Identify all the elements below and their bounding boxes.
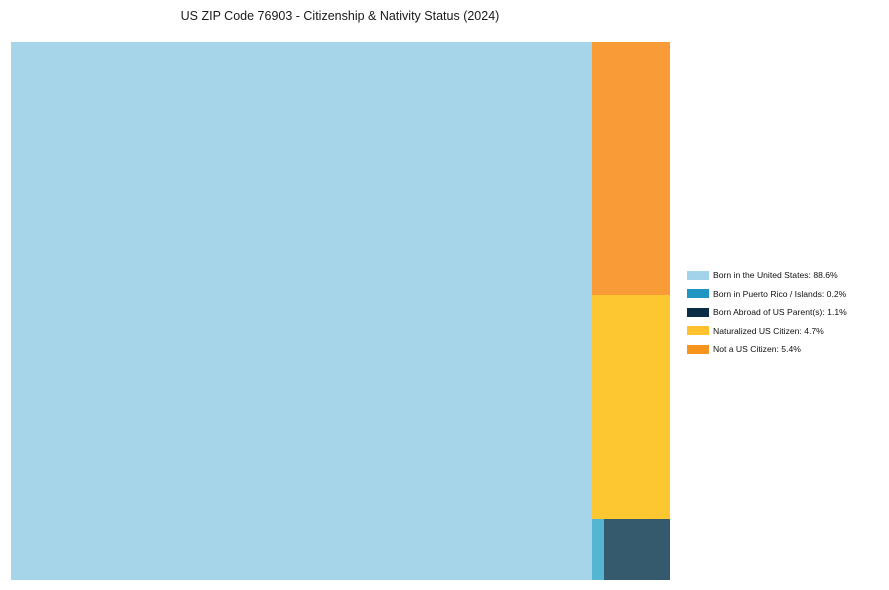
legend-item-label: Born Abroad of US Parent(s): 1.1% — [713, 307, 847, 317]
legend-item[interactable]: Born in the United States: 88.6% — [687, 266, 887, 285]
treemap-plot-area — [11, 42, 670, 580]
legend-swatch-icon — [687, 289, 709, 298]
legend-item[interactable]: Born in Puerto Rico / Islands: 0.2% — [687, 285, 887, 304]
legend-swatch-icon — [687, 308, 709, 317]
legend-item-label: Born in Puerto Rico / Islands: 0.2% — [713, 289, 846, 299]
legend-item-label: Naturalized US Citizen: 4.7% — [713, 326, 824, 336]
legend-swatch-icon — [687, 326, 709, 335]
legend-item-label: Not a US Citizen: 5.4% — [713, 344, 801, 354]
treemap-tile[interactable] — [592, 519, 604, 580]
legend-item[interactable]: Naturalized US Citizen: 4.7% — [687, 322, 887, 341]
treemap-tile[interactable] — [604, 519, 670, 580]
legend-item[interactable]: Not a US Citizen: 5.4% — [687, 340, 887, 359]
legend-item[interactable]: Born Abroad of US Parent(s): 1.1% — [687, 303, 887, 322]
treemap-tile[interactable] — [592, 295, 670, 519]
treemap-chart-figure: US ZIP Code 76903 - Citizenship & Nativi… — [0, 0, 889, 590]
treemap-tile[interactable] — [11, 42, 592, 580]
chart-title: US ZIP Code 76903 - Citizenship & Nativi… — [0, 9, 680, 23]
legend-swatch-icon — [687, 345, 709, 354]
treemap-tile[interactable] — [592, 42, 670, 295]
legend-item-label: Born in the United States: 88.6% — [713, 270, 838, 280]
legend-swatch-icon — [687, 271, 709, 280]
chart-legend: Born in the United States: 88.6%Born in … — [687, 266, 887, 359]
